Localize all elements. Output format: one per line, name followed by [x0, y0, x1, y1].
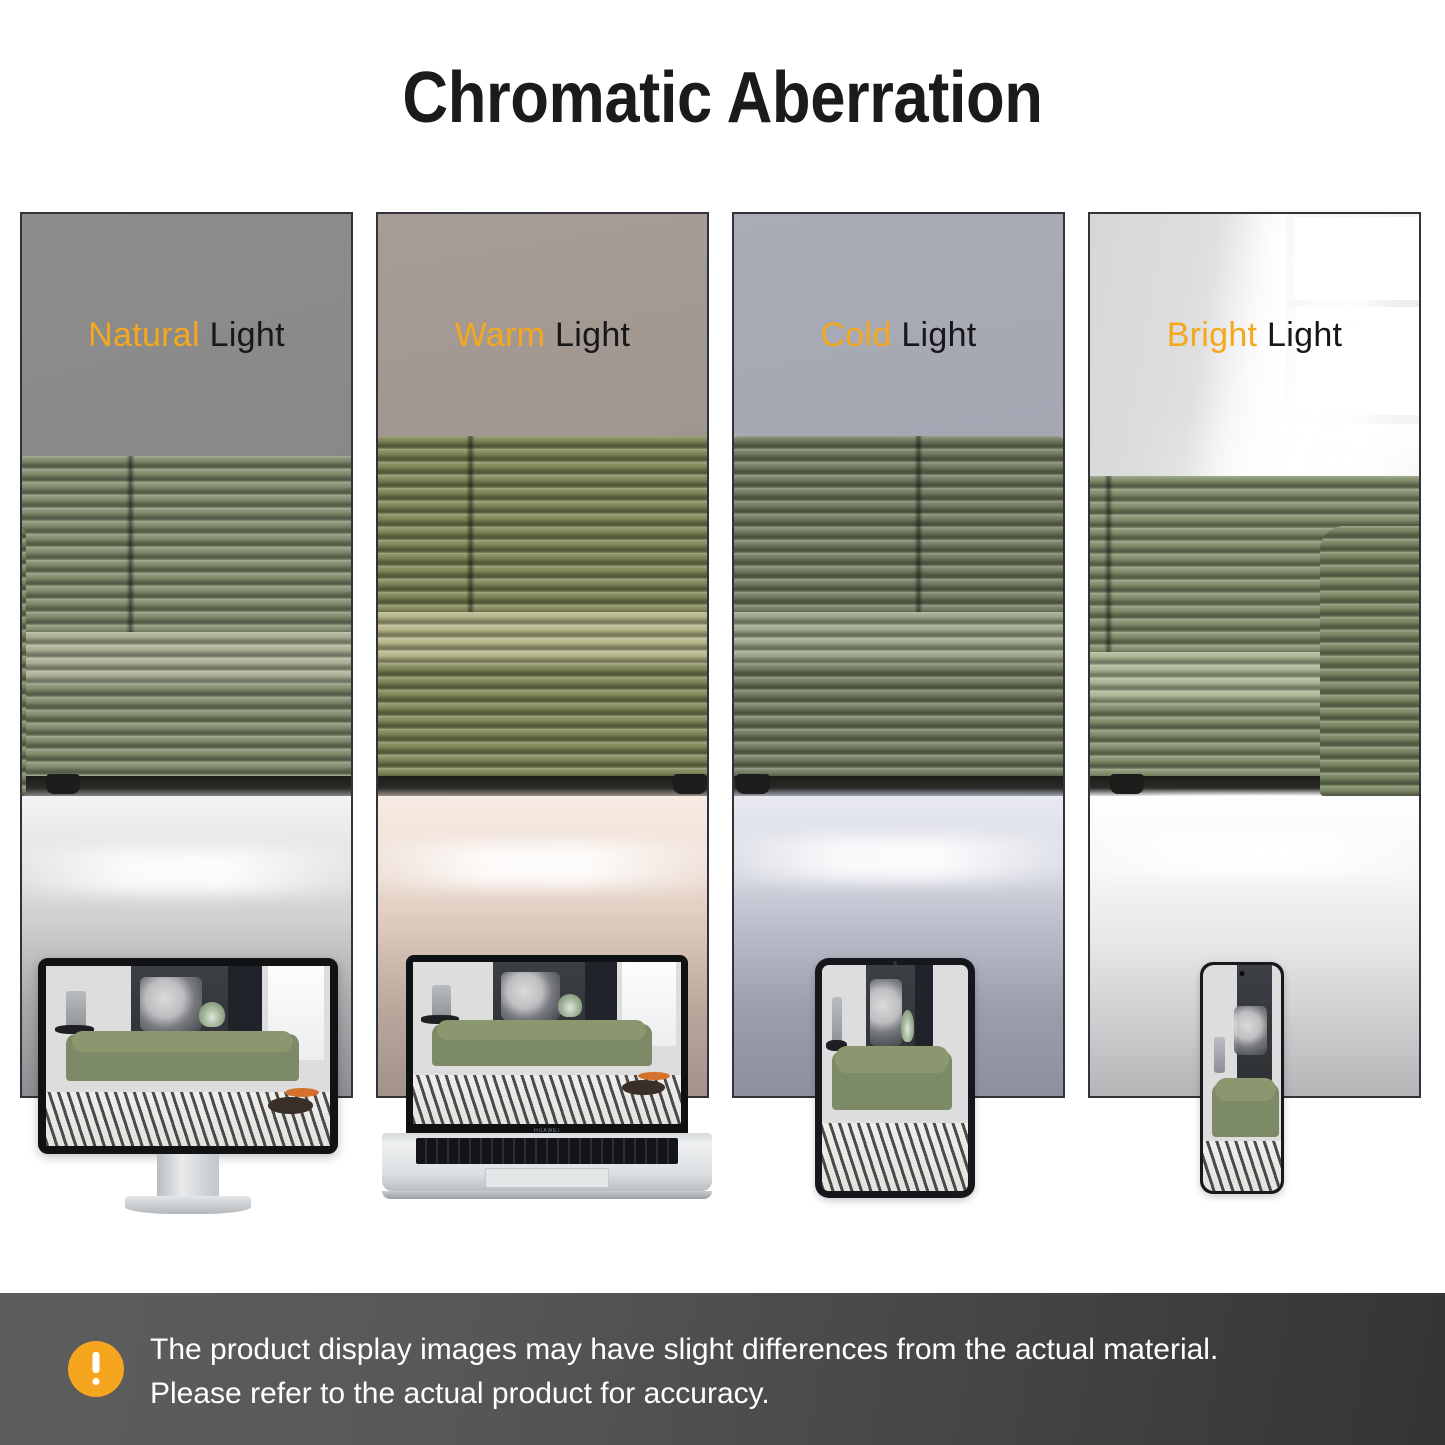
sofa-warm [376, 436, 709, 796]
label-suffix: Light [1257, 316, 1342, 354]
exclamation-icon [68, 1341, 124, 1397]
room-wall-art [1234, 1006, 1267, 1056]
sofa-seam [126, 456, 135, 638]
room-statue [832, 997, 842, 1047]
device-laptop[interactable]: HUAWEI [382, 955, 712, 1213]
device-desktop-monitor[interactable] [38, 958, 338, 1213]
room-rug [822, 1123, 968, 1191]
sofa-base [376, 664, 709, 782]
room-sofa-cushions [72, 1031, 294, 1053]
sofa-backrest [20, 456, 353, 638]
disclaimer-line-2: Please refer to the actual product for a… [150, 1372, 1415, 1416]
sofa-natural [20, 456, 353, 796]
sofa-base [20, 684, 353, 782]
room-bowl [622, 1080, 665, 1095]
sofa-seam [466, 436, 475, 618]
panel-label-cold: Cold Light [734, 316, 1063, 355]
sofa-seat-cushion [732, 612, 1065, 672]
floor-light-streak [20, 848, 353, 894]
sofa-foot [673, 774, 707, 794]
room-wall-art [501, 972, 560, 1021]
label-highlight: Natural [88, 316, 200, 354]
panel-label-bright: Bright Light [1090, 316, 1419, 355]
monitor-bezel [38, 958, 338, 1154]
sofa-backrest [376, 436, 709, 618]
phone-screen [1203, 965, 1281, 1191]
phone-camera-icon [1240, 971, 1245, 976]
sofa-arm-right [1320, 526, 1421, 796]
panel-label-natural: Natural Light [22, 316, 351, 355]
device-tablet[interactable] [815, 958, 975, 1198]
page-title: Chromatic Aberration [87, 62, 1359, 134]
monitor-screen [46, 966, 330, 1146]
exclamation-dot [93, 1378, 100, 1385]
room-plant [199, 1002, 225, 1027]
sofa-seat-cushion [376, 612, 709, 672]
phone-bezel [1200, 962, 1284, 1194]
laptop-trackpad[interactable] [485, 1168, 609, 1188]
sofa-bright [1088, 476, 1421, 796]
label-highlight: Cold [820, 316, 891, 354]
room-wall-art [140, 977, 202, 1031]
sofa-shadow [732, 776, 1065, 796]
sofa-foot [46, 774, 80, 794]
floor-light-streak [1088, 830, 1421, 876]
monitor-stand-neck [157, 1154, 219, 1200]
sofa-arm-left [20, 526, 26, 796]
laptop-lid: HUAWEI [406, 955, 688, 1136]
floor-light-streak [732, 836, 1065, 882]
exclamation-bar [93, 1352, 100, 1373]
room-wall-art [870, 979, 902, 1047]
disclaimer-text: The product display images may have slig… [150, 1328, 1415, 1415]
laptop-screen [413, 962, 681, 1124]
sofa-seam [1104, 476, 1113, 658]
label-suffix: Light [545, 316, 630, 354]
sofa-seat-cushion [20, 632, 353, 692]
sofa-shadow [376, 776, 709, 796]
label-suffix: Light [892, 316, 977, 354]
tablet-bezel [815, 958, 975, 1198]
laptop-front-edge [382, 1191, 712, 1199]
room-plant [558, 994, 582, 1017]
sofa-foot [736, 774, 770, 794]
sofa-seam [914, 436, 923, 618]
sofa-foot [1110, 774, 1144, 794]
room-sofa-cushions [437, 1020, 646, 1039]
monitor-stand-base [125, 1196, 251, 1214]
room-sofa-cushions [835, 1046, 949, 1073]
tablet-screen [822, 965, 968, 1191]
tablet-camera-icon [893, 961, 897, 965]
sofa-base [732, 664, 1065, 782]
disclaimer-line-1: The product display images may have slig… [150, 1328, 1415, 1372]
panel-label-warm: Warm Light [378, 316, 707, 355]
label-suffix: Light [200, 316, 285, 354]
room-statue [1214, 1037, 1225, 1073]
label-highlight: Warm [455, 316, 546, 354]
sofa-backrest [732, 436, 1065, 618]
room-sofa-cushions [1215, 1078, 1276, 1101]
disclaimer-footer: The product display images may have slig… [0, 1293, 1445, 1445]
laptop-keyboard[interactable] [416, 1138, 678, 1164]
label-highlight: Bright [1167, 316, 1258, 354]
sofa-cold [732, 436, 1065, 796]
monitor-camera-icon [186, 969, 190, 973]
room-plant [901, 1010, 914, 1042]
floor-light-streak [376, 842, 709, 888]
device-smartphone[interactable] [1200, 962, 1284, 1194]
room-rug [1203, 1141, 1281, 1191]
room-bowl [268, 1097, 313, 1113]
